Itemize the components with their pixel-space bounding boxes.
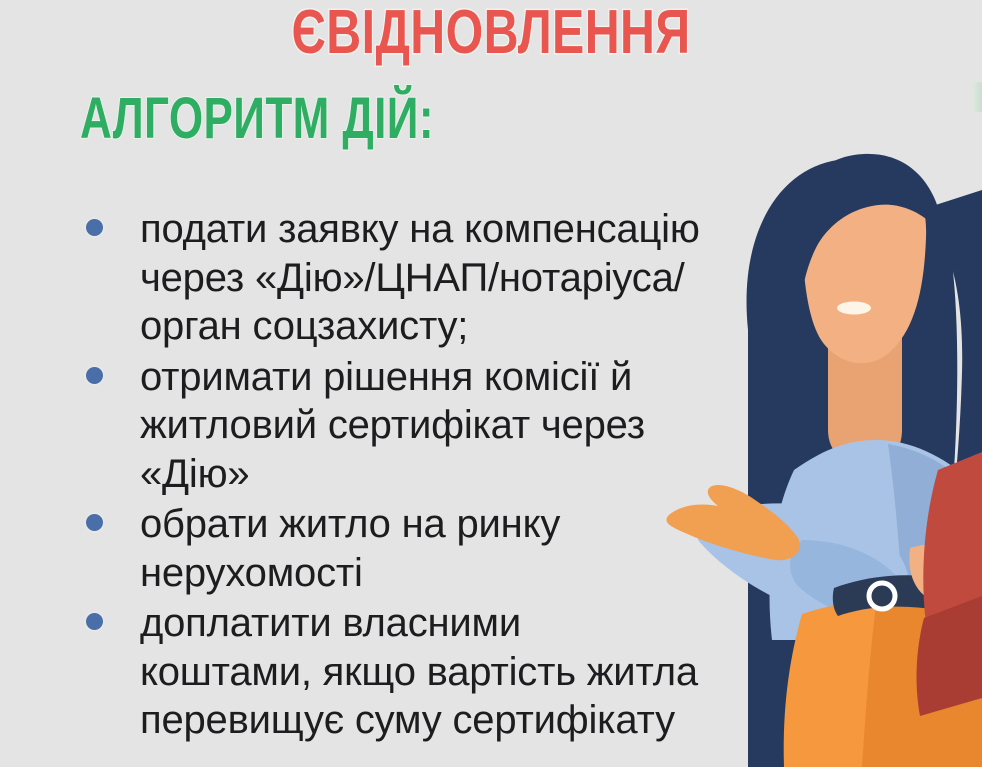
step-text: подати заявку на компенсацію через «Дію»…: [140, 205, 778, 351]
blouse-shape: [770, 440, 982, 640]
list-item: доплатити власними коштами, якщо вартіст…: [78, 599, 778, 745]
list-item: подати заявку на компенсацію через «Дію»…: [78, 205, 778, 351]
edge-sliver-decoration: [972, 82, 982, 112]
step-text: обрати житло на ринку нерухомості: [140, 500, 778, 597]
bullet-icon: [86, 613, 103, 630]
belt-buckle-icon: [869, 583, 895, 609]
skirt-shape: [784, 600, 982, 767]
list-item: обрати житло на ринку нерухомості: [78, 500, 778, 597]
belt-shape: [833, 575, 982, 618]
hair-fringe-shape: [791, 154, 944, 308]
belt-buckle-center: [874, 588, 890, 604]
forearm-shape: [909, 544, 982, 614]
step-text: доплатити власними коштами, якщо вартіст…: [140, 599, 778, 745]
folder-shape: [923, 452, 982, 624]
poster-canvas: ЄВІДНОВЛЕННЯ АЛГОРИТМ ДІЙ: подати заявку…: [0, 0, 982, 767]
sleeve-shade-shape: [790, 540, 905, 617]
bullet-icon: [86, 367, 103, 384]
page-subtitle-algorithm: АЛГОРИТМ ДІЙ:: [80, 90, 434, 148]
step-text: отримати рішення комісії й житловий серт…: [140, 353, 778, 499]
list-item: отримати рішення комісії й житловий серт…: [78, 353, 778, 499]
steps-list: подати заявку на компенсацію через «Дію»…: [78, 205, 778, 747]
neck-shape: [828, 330, 902, 466]
hair-back-shape: [747, 159, 982, 767]
folder-flap-shape: [917, 596, 982, 716]
bullet-icon: [86, 514, 103, 531]
bullet-icon: [86, 219, 103, 236]
smile-shape: [837, 302, 871, 315]
skirt-shade-shape: [862, 606, 982, 767]
hair-right-strand: [920, 190, 982, 690]
blouse-shade-shape: [888, 444, 982, 612]
page-title-evidnovlennya: ЄВІДНОВЛЕННЯ: [108, 2, 874, 64]
face-shape: [802, 158, 926, 363]
